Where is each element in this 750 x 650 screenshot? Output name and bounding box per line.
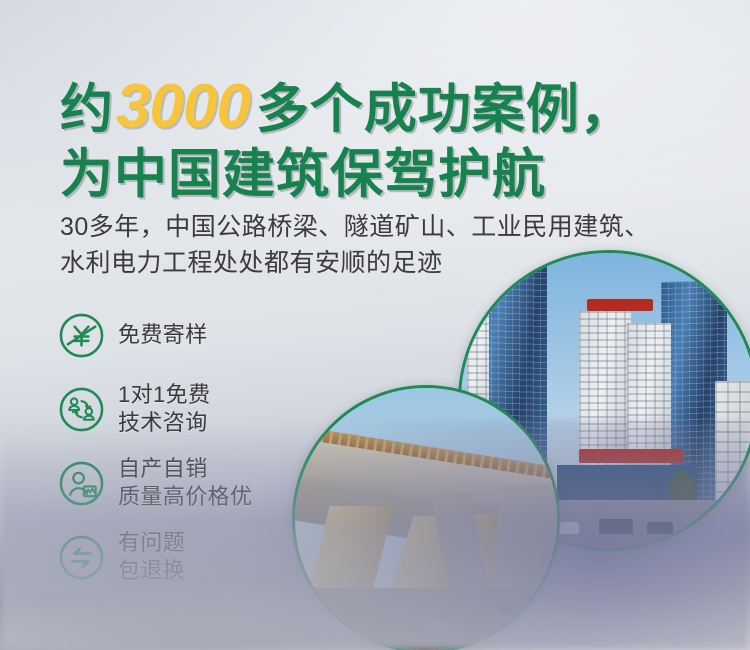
promo-banner: 约3000多个成功案例， 为中国建筑保驾护航 30多年，中国公路桥梁、隧道矿山、… [0, 0, 750, 650]
feature-item-self-production[interactable]: 自产自销 质量高价格优 [58, 446, 318, 520]
free-shipping-icon [58, 312, 105, 359]
bridge-photo [292, 385, 560, 650]
self-production-icon [58, 460, 105, 507]
feature-label: 免费寄样 [118, 321, 208, 349]
one-on-one-consult-icon [58, 386, 105, 433]
subtitle-line-1: 30多年，中国公路桥梁、隧道矿山、工业民用建筑、 [60, 210, 725, 246]
ground-rubble [295, 588, 557, 650]
headline-number: 3000 [114, 72, 256, 141]
return-exchange-icon [58, 534, 105, 581]
headline-line-2-text: 为中国建筑保驾护航 [60, 145, 546, 204]
rooftop-sign [587, 299, 653, 311]
bridge-photo-inner [295, 388, 557, 650]
headline-suffix: 多个成功案例， [256, 80, 634, 139]
feature-item-one-on-one-consult[interactable]: 1对1免费 技术咨询 [58, 372, 318, 446]
headline-line-2: 为中国建筑保驾护航 [60, 148, 720, 201]
facade-sign [579, 449, 683, 463]
car [599, 519, 633, 534]
headline-line-1: 约3000多个成功案例， [60, 76, 720, 138]
feature-list: 免费寄样 1对1免费 技术咨询 [58, 298, 318, 594]
feature-item-return-exchange[interactable]: 有问题 包退换 [58, 520, 318, 594]
feature-label: 有问题 包退换 [118, 529, 185, 584]
headline: 约3000多个成功案例， 为中国建筑保驾护航 [60, 76, 720, 201]
feature-label: 自产自销 质量高价格优 [118, 455, 252, 510]
feature-item-free-shipping[interactable]: 免费寄样 [58, 298, 318, 372]
headline-prefix: 约 [60, 80, 114, 139]
car [647, 522, 673, 534]
feature-label: 1对1免费 技术咨询 [118, 381, 210, 436]
